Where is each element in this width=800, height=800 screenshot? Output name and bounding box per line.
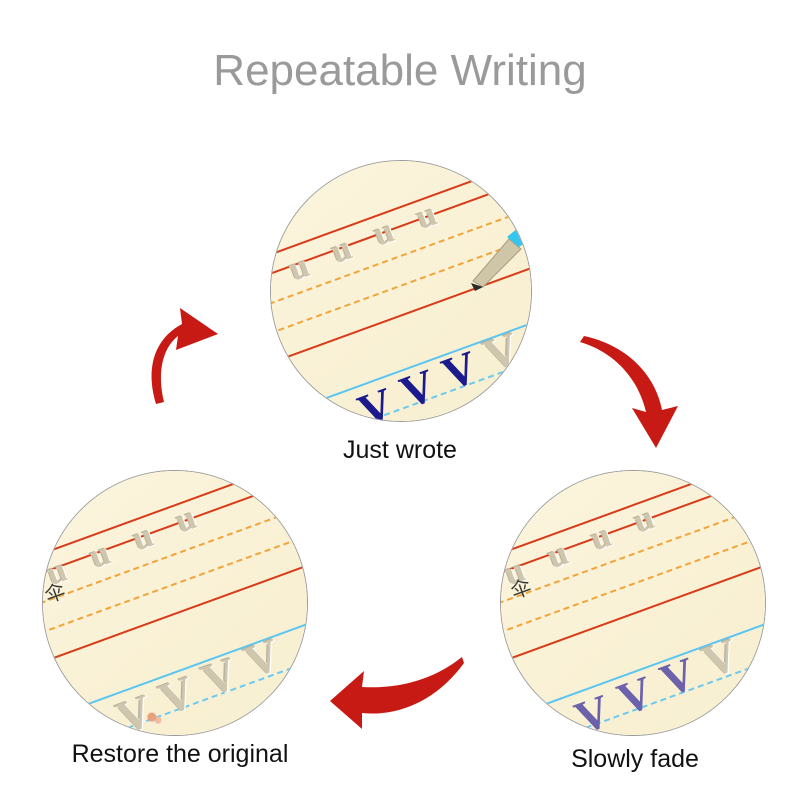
pen-tip-icon	[465, 223, 532, 293]
blossom-decoration	[143, 709, 165, 727]
arrow-fade-to-restore	[328, 655, 468, 745]
caption-restore-original: Restore the original	[50, 740, 310, 769]
blossom-decoration	[519, 693, 549, 719]
step-circle-restore-original[interactable]: u u u u u V V V V V 伞	[42, 470, 308, 736]
arrow-wrote-to-fade	[578, 330, 708, 460]
arrow-restore-to-wrote	[130, 288, 250, 408]
step-circle-slowly-fade[interactable]: u u u u u V V V V V V 伞	[500, 470, 766, 736]
cycle-diagram: u u u u u V V V V V	[0, 0, 800, 800]
caption-slowly-fade: Slowly fade	[515, 745, 755, 774]
step-circle-just-wrote[interactable]: u u u u u V V V V V	[270, 160, 532, 422]
caption-just-wrote: Just wrote	[280, 436, 520, 465]
